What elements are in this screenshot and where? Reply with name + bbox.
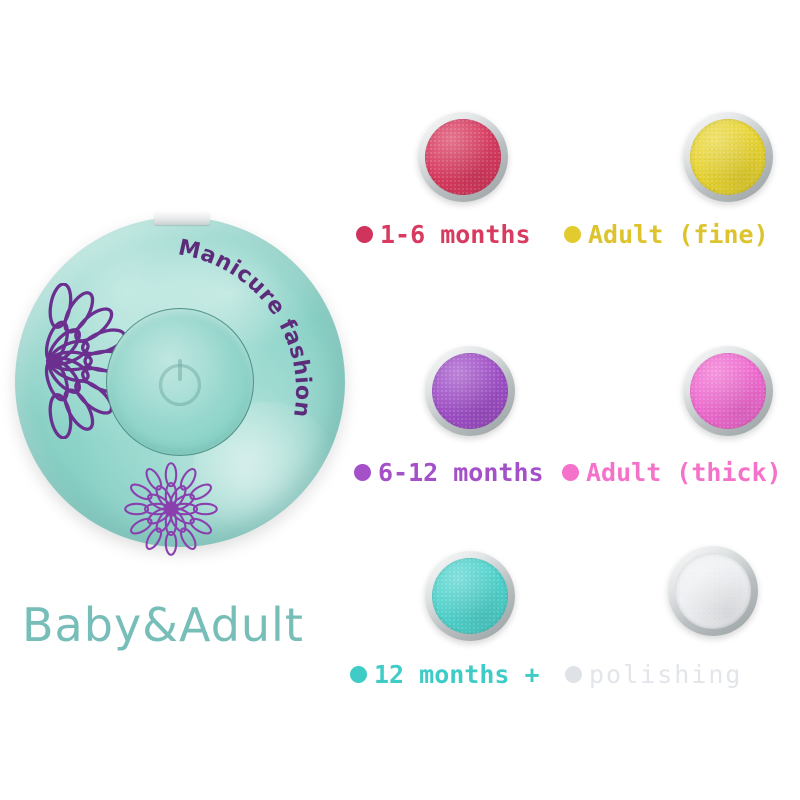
label-text: polishing (589, 660, 742, 689)
disc-face (690, 353, 766, 429)
bullet-icon (350, 666, 367, 683)
disc-adult-fine[interactable] (683, 112, 773, 202)
grit-texture (432, 353, 508, 429)
disc-cell-12-months-plus[interactable] (425, 551, 515, 641)
label-adult-fine: Adult (fine) (564, 220, 769, 249)
device-lid-tab (154, 211, 210, 225)
label-12-months-plus: 12 months + (350, 660, 540, 689)
label-6-12-months: 6-12 months (354, 458, 544, 487)
disc-6-12-months[interactable] (425, 346, 515, 436)
power-button[interactable] (106, 308, 254, 456)
grit-texture (432, 558, 508, 634)
grit-texture (675, 553, 751, 629)
label-text: Adult (thick) (586, 458, 782, 487)
disc-face (425, 119, 501, 195)
label-polishing: polishing (565, 660, 742, 689)
bullet-icon (562, 464, 579, 481)
label-1-6-months: 1-6 months (356, 220, 531, 249)
nail-trimmer-device[interactable]: Manicure fashion (8, 205, 358, 555)
disc-face (432, 353, 508, 429)
bullet-icon (354, 464, 371, 481)
device-body (15, 217, 345, 547)
bullet-icon (356, 226, 373, 243)
disc-cell-6-12-months[interactable] (425, 346, 515, 436)
label-text: 12 months + (374, 660, 540, 689)
baby-adult-caption: Baby&Adult (22, 598, 304, 652)
disc-face (675, 553, 751, 629)
grit-texture (690, 353, 766, 429)
product-image-canvas: Manicure fashion Baby&Adult 1-6 months (0, 0, 800, 800)
disc-face (432, 558, 508, 634)
grit-texture (425, 119, 501, 195)
bullet-icon (564, 226, 581, 243)
bullet-icon (565, 666, 582, 683)
disc-cell-adult-thick[interactable] (683, 346, 773, 436)
power-icon (150, 352, 210, 412)
flower-motif-small (119, 457, 223, 561)
disc-cell-1-6-months[interactable] (418, 112, 508, 202)
disc-face (690, 119, 766, 195)
label-adult-thick: Adult (thick) (562, 458, 782, 487)
label-text: 1-6 months (380, 220, 531, 249)
disc-adult-thick[interactable] (683, 346, 773, 436)
label-text: Adult (fine) (588, 220, 769, 249)
disc-cell-adult-fine[interactable] (683, 112, 773, 202)
disc-12-months-plus[interactable] (425, 551, 515, 641)
disc-polishing[interactable] (668, 546, 758, 636)
attachment-discs-grid: 1-6 months Adult (fine) 6-12 months (340, 96, 800, 716)
grit-texture (690, 119, 766, 195)
disc-cell-polishing[interactable] (668, 546, 758, 636)
disc-1-6-months[interactable] (418, 112, 508, 202)
label-text: 6-12 months (378, 458, 544, 487)
